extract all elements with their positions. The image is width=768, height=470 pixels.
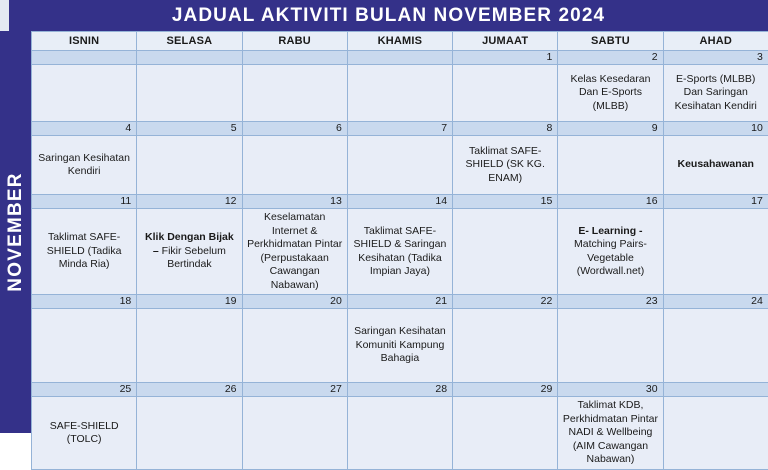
date-cell: 5 [137, 122, 242, 136]
day-header-isnin: ISNIN [32, 32, 137, 51]
event-cell[interactable] [32, 65, 137, 122]
date-cell: 11 [32, 195, 137, 209]
date-cell [663, 383, 768, 397]
event-cell[interactable]: Saringan Kesihatan Kendiri [32, 136, 137, 195]
month-label: NOVEMBER [5, 172, 27, 291]
date-cell: 20 [242, 295, 347, 309]
event-text: Saringan Kesihatan Kendiri [36, 152, 132, 179]
event-text: E-Sports (MLBB) Dan Saringan Kesihatan K… [668, 73, 764, 114]
day-of-week-header-row: ISNIN SELASA RABU KHAMIS JUMAAT SABTU AH… [32, 32, 768, 51]
date-cell: 14 [347, 195, 452, 209]
date-cell: 25 [32, 383, 137, 397]
day-header-ahad: AHAD [663, 32, 768, 51]
month-spine: NOVEMBER [0, 31, 31, 433]
day-header-rabu: RABU [242, 32, 347, 51]
event-cell[interactable] [242, 397, 347, 470]
event-cell[interactable]: E-Sports (MLBB) Dan Saringan Kesihatan K… [663, 65, 768, 122]
event-cell[interactable] [663, 309, 768, 383]
event-row: Taklimat SAFE-SHIELD (Tadika Minda Ria) … [32, 209, 768, 295]
date-cell: 23 [558, 295, 663, 309]
date-cell: 1 [453, 51, 558, 65]
date-cell: 27 [242, 383, 347, 397]
date-cell [137, 51, 242, 65]
event-cell[interactable] [137, 397, 242, 470]
event-cell[interactable]: SAFE-SHIELD (TOLC) [32, 397, 137, 470]
event-cell[interactable]: E- Learning - Matching Pairs-Vegetable (… [558, 209, 663, 295]
date-cell: 4 [32, 122, 137, 136]
event-cell[interactable] [663, 397, 768, 470]
date-cell: 12 [137, 195, 242, 209]
event-cell[interactable] [453, 65, 558, 122]
calendar-body: 1 2 3 Kelas Kesedaran Dan E-Sports (MLBB… [32, 51, 768, 470]
event-cell[interactable] [347, 136, 452, 195]
date-cell: 8 [453, 122, 558, 136]
event-cell[interactable] [663, 209, 768, 295]
event-text: Taklimat KDB, Perkhidmatan Pintar NADI &… [562, 399, 658, 467]
day-header-jumaat: JUMAAT [453, 32, 558, 51]
event-cell[interactable]: Taklimat SAFE-SHIELD (Tadika Minda Ria) [32, 209, 137, 295]
event-cell[interactable] [137, 309, 242, 383]
event-cell[interactable]: Taklimat KDB, Perkhidmatan Pintar NADI &… [558, 397, 663, 470]
event-cell[interactable]: Kelas Kesedaran Dan E-Sports (MLBB) [558, 65, 663, 122]
date-cell: 17 [663, 195, 768, 209]
event-text: Taklimat SAFE-SHIELD & Saringan Kesihata… [352, 225, 448, 279]
date-cell: 7 [347, 122, 452, 136]
date-cell: 30 [558, 383, 663, 397]
event-text: Taklimat SAFE-SHIELD (Tadika Minda Ria) [36, 231, 132, 272]
event-cell[interactable] [453, 209, 558, 295]
event-text: Keusahawanan [668, 158, 764, 172]
event-cell[interactable] [558, 136, 663, 195]
event-cell[interactable]: Saringan Kesihatan Komuniti Kampung Baha… [347, 309, 452, 383]
calendar-page: JADUAL AKTIVITI BULAN NOVEMBER 2024 NOVE… [0, 0, 768, 433]
event-text: Klik Dengan Bijak – Fikir Sebelum Bertin… [141, 231, 237, 272]
event-cell[interactable] [32, 309, 137, 383]
date-number-row: 25 26 27 28 29 30 [32, 383, 768, 397]
corner-accent-strip [0, 0, 9, 31]
date-cell: 16 [558, 195, 663, 209]
day-header-selasa: SELASA [137, 32, 242, 51]
date-cell: 2 [558, 51, 663, 65]
date-cell: 22 [453, 295, 558, 309]
event-cell[interactable]: Taklimat SAFE-SHIELD & Saringan Kesihata… [347, 209, 452, 295]
day-header-sabtu: SABTU [558, 32, 663, 51]
date-number-row: 18 19 20 21 22 23 24 [32, 295, 768, 309]
event-text: E- Learning - Matching Pairs-Vegetable (… [562, 225, 658, 279]
date-cell: 19 [137, 295, 242, 309]
event-text: Saringan Kesihatan Komuniti Kampung Baha… [352, 325, 448, 366]
event-cell[interactable] [242, 136, 347, 195]
date-number-row: 1 2 3 [32, 51, 768, 65]
event-text: Keselamatan Internet & Perkhidmatan Pint… [247, 211, 343, 292]
event-text: Kelas Kesedaran Dan E-Sports (MLBB) [562, 73, 658, 114]
event-text: SAFE-SHIELD (TOLC) [36, 420, 132, 447]
event-row: Saringan Kesihatan Kendiri Taklimat SAFE… [32, 136, 768, 195]
event-cell[interactable]: Keusahawanan [663, 136, 768, 195]
date-cell: 21 [347, 295, 452, 309]
event-cell[interactable] [453, 397, 558, 470]
event-row: Saringan Kesihatan Komuniti Kampung Baha… [32, 309, 768, 383]
date-cell: 9 [558, 122, 663, 136]
date-cell [347, 51, 452, 65]
event-cell[interactable] [453, 309, 558, 383]
date-number-row: 4 5 6 7 8 9 10 [32, 122, 768, 136]
event-cell[interactable] [137, 65, 242, 122]
event-cell[interactable]: Keselamatan Internet & Perkhidmatan Pint… [242, 209, 347, 295]
date-cell: 10 [663, 122, 768, 136]
date-cell: 13 [242, 195, 347, 209]
date-cell: 29 [453, 383, 558, 397]
date-cell: 26 [137, 383, 242, 397]
page-title: JADUAL AKTIVITI BULAN NOVEMBER 2024 [172, 5, 605, 27]
calendar-grid-wrapper: ISNIN SELASA RABU KHAMIS JUMAAT SABTU AH… [31, 31, 768, 433]
date-number-row: 11 12 13 14 15 16 17 [32, 195, 768, 209]
event-cell[interactable] [558, 309, 663, 383]
event-row: SAFE-SHIELD (TOLC) Taklimat KDB, Perkhid… [32, 397, 768, 470]
calendar-table: ISNIN SELASA RABU KHAMIS JUMAAT SABTU AH… [31, 31, 768, 470]
date-cell: 15 [453, 195, 558, 209]
event-cell[interactable] [242, 309, 347, 383]
event-row: Kelas Kesedaran Dan E-Sports (MLBB) E-Sp… [32, 65, 768, 122]
date-cell [32, 51, 137, 65]
date-cell: 24 [663, 295, 768, 309]
date-cell: 18 [32, 295, 137, 309]
date-cell: 6 [242, 122, 347, 136]
date-cell [242, 51, 347, 65]
event-cell[interactable]: Taklimat SAFE-SHIELD (SK KG. ENAM) [453, 136, 558, 195]
event-cell[interactable] [242, 65, 347, 122]
date-cell: 28 [347, 383, 452, 397]
day-header-khamis: KHAMIS [347, 32, 452, 51]
event-cell[interactable] [137, 136, 242, 195]
event-cell[interactable] [347, 65, 452, 122]
title-bar: JADUAL AKTIVITI BULAN NOVEMBER 2024 [9, 0, 768, 31]
event-cell[interactable] [347, 397, 452, 470]
event-text: Taklimat SAFE-SHIELD (SK KG. ENAM) [457, 145, 553, 186]
date-cell: 3 [663, 51, 768, 65]
event-cell[interactable]: Klik Dengan Bijak – Fikir Sebelum Bertin… [137, 209, 242, 295]
